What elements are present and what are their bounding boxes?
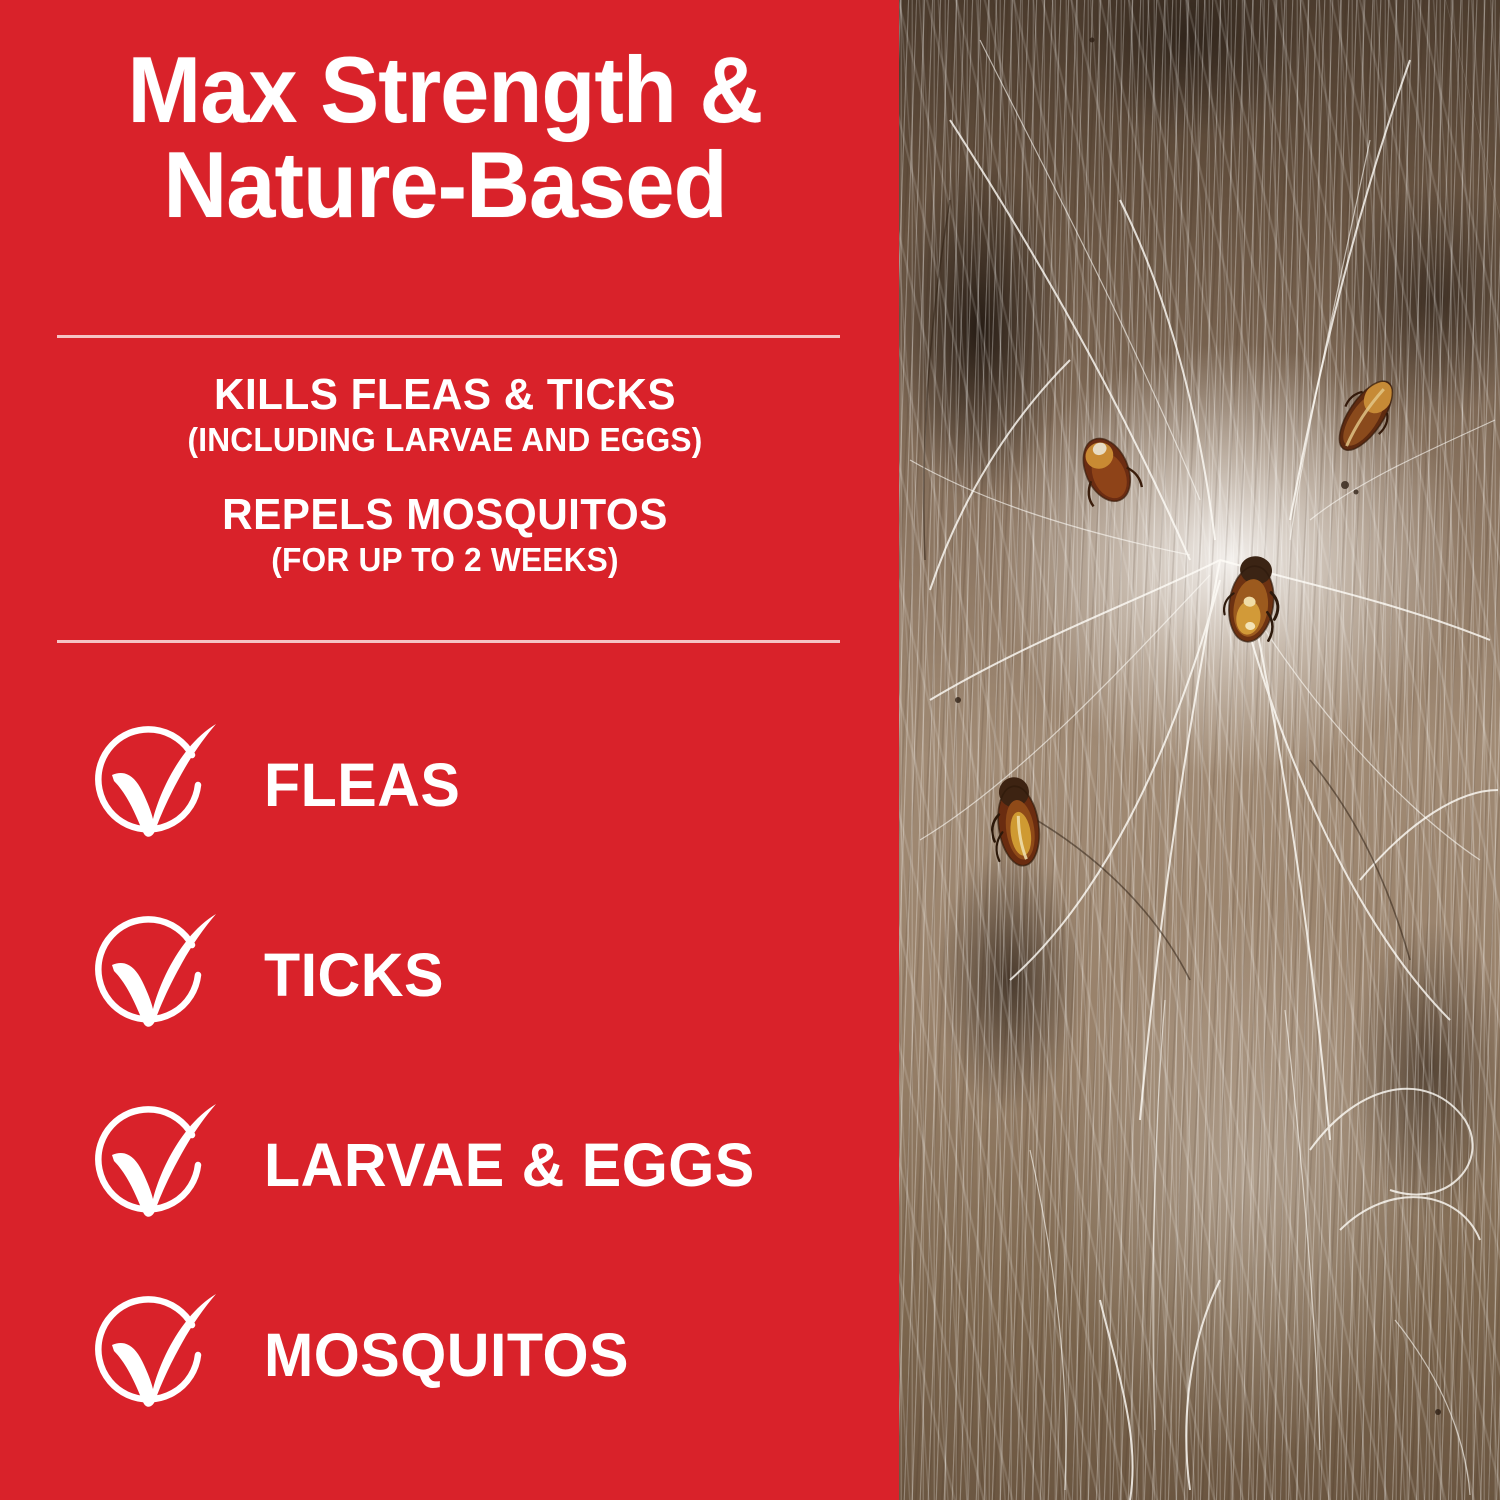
list-item: TICKS (0, 880, 890, 1070)
product-feature-graphic: Max Strength & Nature-Based KILLS FLEAS … (0, 0, 1500, 1500)
benefit-label: MOSQUITOS (264, 1320, 629, 1390)
headline-line-1: Max Strength & (74, 44, 817, 135)
page-title: Max Strength & Nature-Based (27, 44, 864, 230)
headline-line-2: Nature-Based (74, 139, 817, 230)
claim-headline: REPELS MOSQUITOS (75, 490, 814, 539)
benefit-label: TICKS (264, 940, 444, 1010)
claim-subtext: (INCLUDING LARVAE AND EGGS) (75, 421, 814, 460)
claim-headline: KILLS FLEAS & TICKS (75, 370, 814, 419)
claim-subtext: (FOR UP TO 2 WEEKS) (75, 541, 814, 580)
check-circle-icon (88, 1099, 220, 1231)
flea-infested-fur-photo (890, 0, 1500, 1500)
photo-red-edge (890, 0, 899, 1500)
benefit-list: FLEAS TICKS LARVAE & E (0, 690, 890, 1450)
divider-top (57, 335, 840, 338)
check-circle-icon (88, 1289, 220, 1421)
feature-panel: Max Strength & Nature-Based KILLS FLEAS … (0, 0, 890, 1500)
list-item: LARVAE & EGGS (0, 1070, 890, 1260)
check-circle-icon (88, 909, 220, 1041)
list-item: MOSQUITOS (0, 1260, 890, 1450)
benefit-label: LARVAE & EGGS (264, 1130, 755, 1200)
stray-hair-overlay (890, 0, 1500, 1500)
claim-group: REPELS MOSQUITOS (FOR UP TO 2 WEEKS) (60, 490, 830, 580)
claim-group: KILLS FLEAS & TICKS (INCLUDING LARVAE AN… (60, 370, 830, 460)
list-item: FLEAS (0, 690, 890, 880)
benefit-label: FLEAS (264, 750, 460, 820)
check-circle-icon (88, 719, 220, 851)
divider-bottom (57, 640, 840, 643)
claims-block: KILLS FLEAS & TICKS (INCLUDING LARVAE AN… (0, 370, 890, 580)
